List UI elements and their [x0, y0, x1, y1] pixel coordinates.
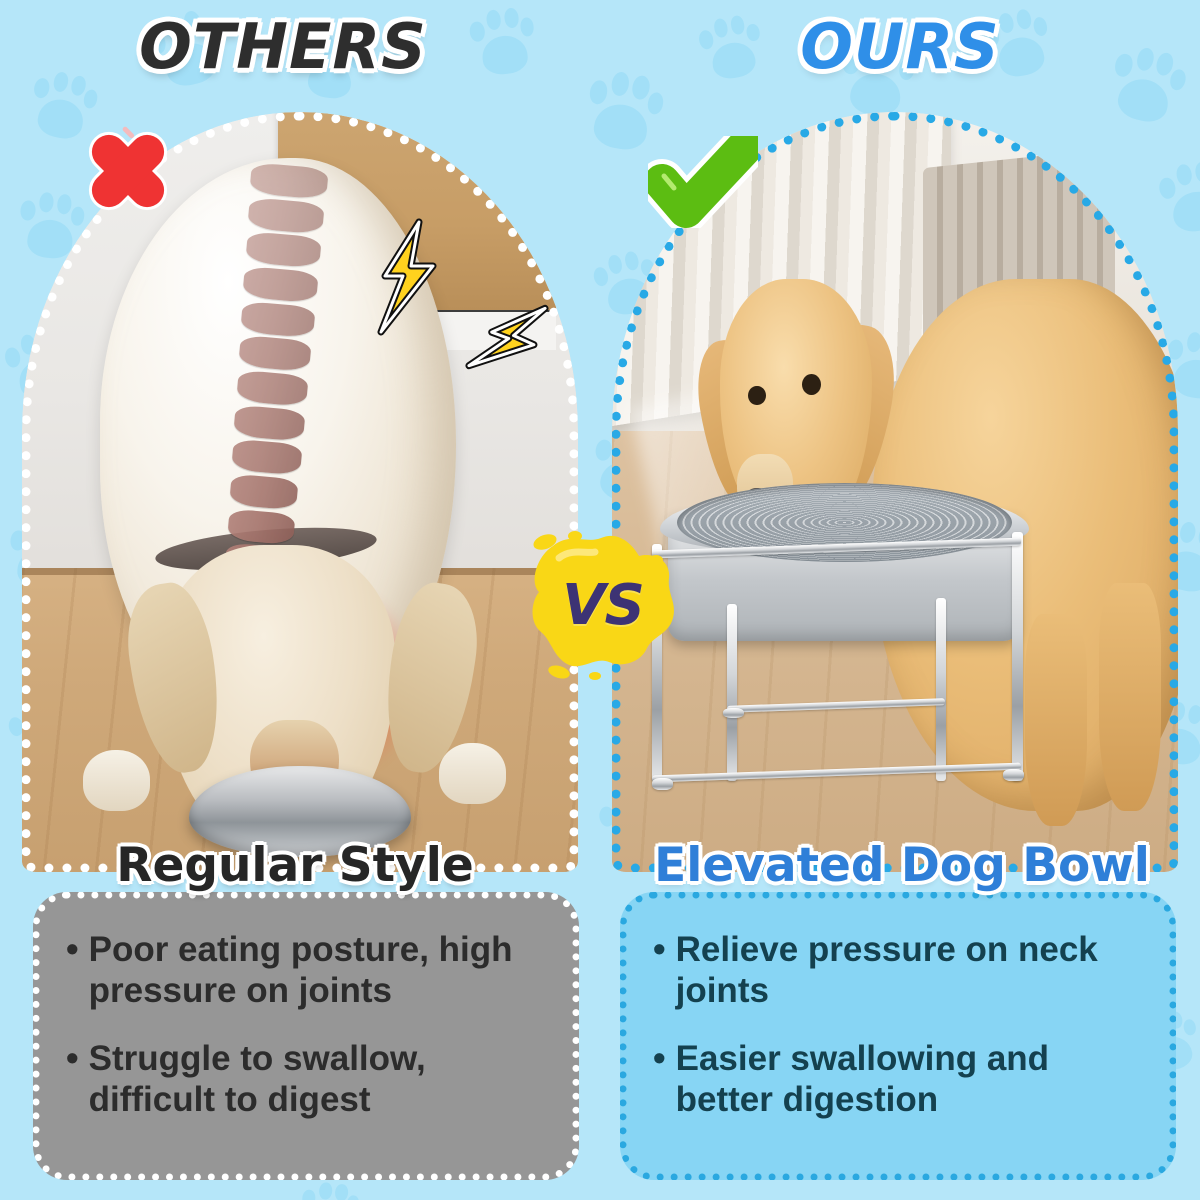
- lightning-bolt-icon: [367, 218, 445, 338]
- list-item-label: Poor eating posture, high pressure on jo…: [89, 929, 548, 1012]
- list-item: • Relieve pressure on neck joints: [653, 929, 1145, 1012]
- comparison-infographic: VS OTHERS OURS Regular Style Elevated Do…: [0, 0, 1200, 1200]
- headline-ours: OURS: [620, 10, 1180, 83]
- bullet-dot-icon: •: [66, 931, 79, 967]
- others-benefits-panel: • Poor eating posture, high pressure on …: [33, 892, 579, 1180]
- headline-others: OTHERS: [0, 10, 566, 83]
- bullet-dot-icon: •: [653, 931, 666, 967]
- green-check-icon: [648, 136, 758, 228]
- list-item-label: Struggle to swallow, difficult to digest: [89, 1038, 548, 1121]
- elevated-bowl-stand: [652, 507, 1071, 811]
- photo-regular-style-dog: [22, 112, 578, 872]
- list-item: • Easier swallowing and better digestion: [653, 1038, 1145, 1121]
- others-photo-arch: [22, 112, 578, 872]
- bullet-dot-icon: •: [653, 1040, 666, 1076]
- list-item-label: Easier swallowing and better digestion: [676, 1038, 1145, 1121]
- vs-badge: VS: [525, 530, 681, 680]
- paw-print-icon: [297, 1177, 363, 1200]
- ours-benefits-panel: • Relieve pressure on neck joints • Easi…: [620, 892, 1176, 1180]
- red-x-icon: [72, 116, 184, 226]
- bullet-dot-icon: •: [66, 1040, 79, 1076]
- list-item: • Poor eating posture, high pressure on …: [66, 929, 548, 1012]
- vs-label: VS: [525, 530, 681, 680]
- list-item-label: Relieve pressure on neck joints: [676, 929, 1145, 1012]
- subtitle-regular-style: Regular Style: [0, 838, 590, 893]
- subtitle-elevated-dog-bowl: Elevated Dog Bowl: [604, 838, 1200, 893]
- list-item: • Struggle to swallow, difficult to dige…: [66, 1038, 548, 1121]
